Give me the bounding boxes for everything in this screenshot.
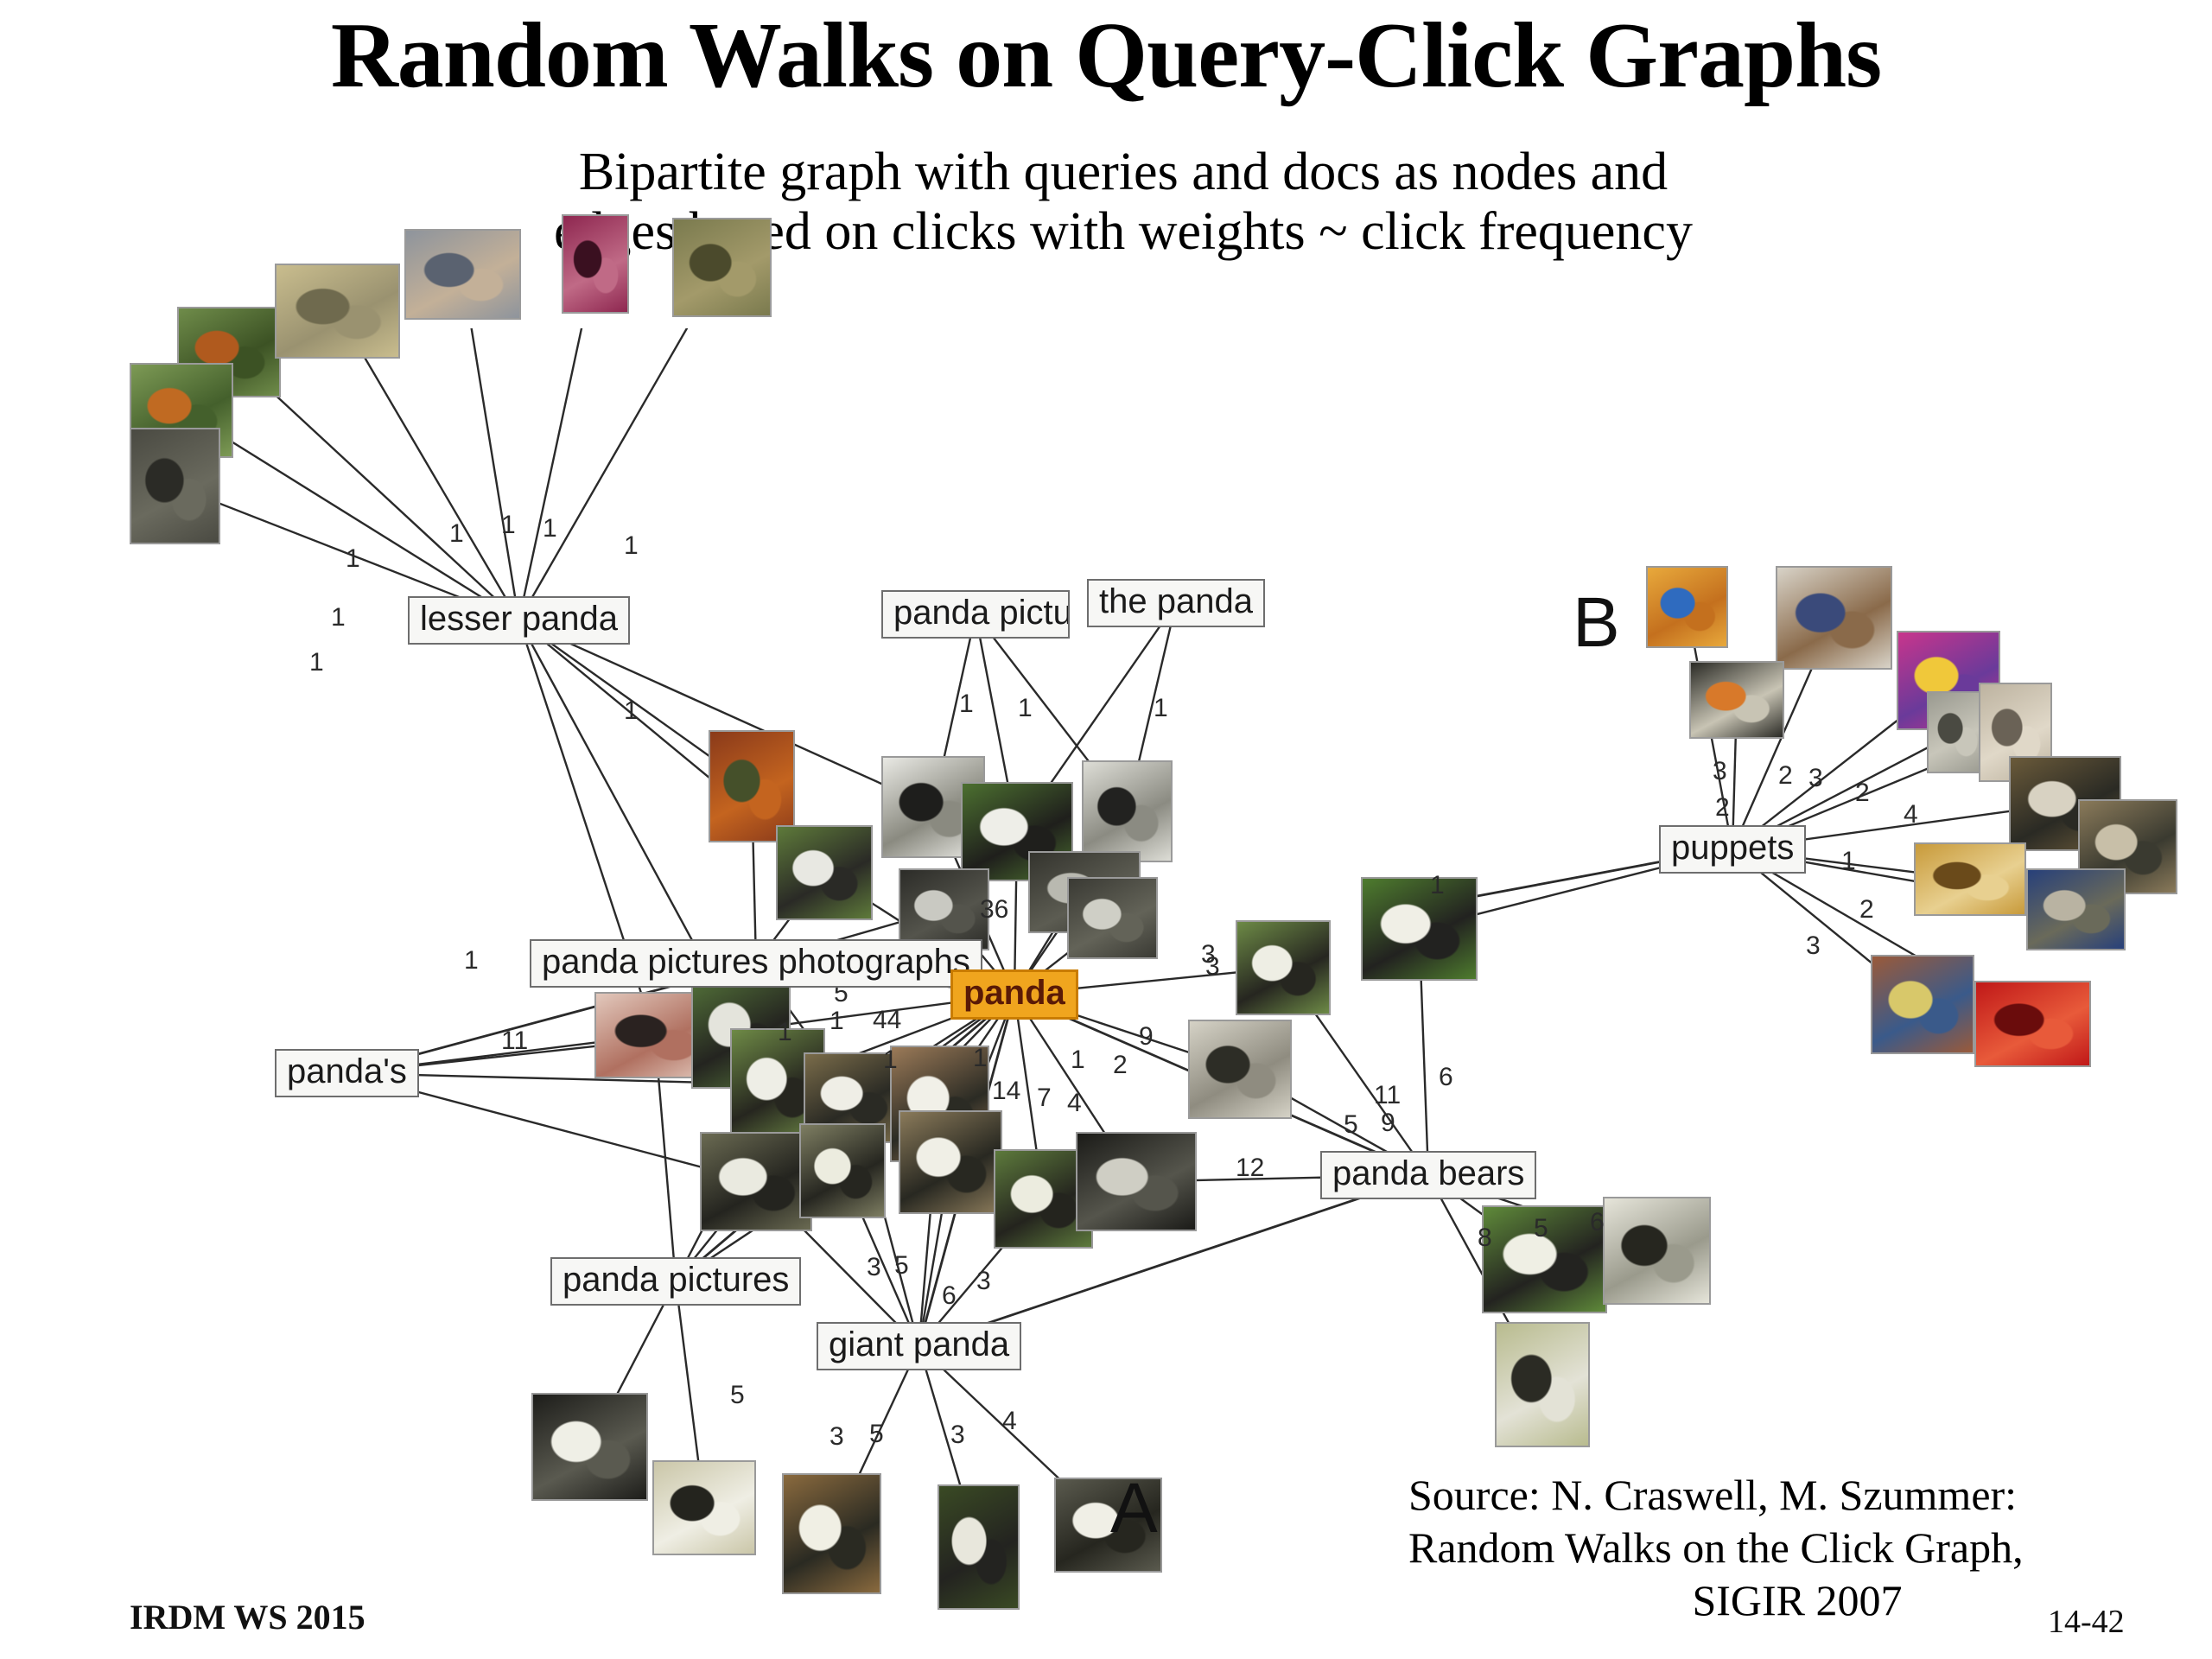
panda-dark-frame-thumbnail xyxy=(1077,1134,1195,1230)
document-node[interactable] xyxy=(1871,955,1974,1054)
green-panda-thumbnail xyxy=(778,827,871,918)
edge-weight-label: 1 xyxy=(543,516,557,542)
graph-edge xyxy=(519,328,596,620)
document-node[interactable] xyxy=(1914,842,2026,916)
dark-animal-thumbnail xyxy=(131,429,219,543)
edge-weight-label: 1 xyxy=(624,533,639,559)
edge-weight-label: 1 xyxy=(331,605,346,631)
query-click-graph: 1111111111115113644111111474339212116598… xyxy=(0,328,2212,1573)
region-marker-a: A xyxy=(1110,1473,1158,1544)
query-node-label: panda bears xyxy=(1332,1154,1524,1192)
document-node[interactable] xyxy=(899,1110,1002,1214)
panda-bamboo2-thumbnail xyxy=(1237,922,1329,1014)
document-node[interactable] xyxy=(2026,868,2126,950)
query-node-pandas-possessive[interactable]: panda's xyxy=(275,1049,419,1097)
panda-face2-thumbnail xyxy=(900,1112,1001,1212)
edge-weight-label: 3 xyxy=(1713,759,1727,785)
edge-weight-label: 1 xyxy=(1071,1047,1085,1073)
edge-weight-label: 3 xyxy=(1808,766,1823,791)
edge-weight-label: 9 xyxy=(1139,1024,1154,1050)
edge-weight-label: 6 xyxy=(1439,1065,1453,1090)
document-node[interactable] xyxy=(1974,981,2091,1067)
panda-green3-thumbnail xyxy=(1363,879,1476,979)
edge-weight-label: 1 xyxy=(501,512,516,538)
puppet-stage-thumbnail xyxy=(1916,844,2024,914)
document-node[interactable] xyxy=(782,1473,881,1594)
query-node-label: panda xyxy=(963,974,1065,1012)
panda-face3-thumbnail xyxy=(784,1475,880,1592)
edge-weight-label: 4 xyxy=(1904,802,1918,828)
edge-weight-label: 36 xyxy=(980,897,1008,923)
edge-weight-label: 1 xyxy=(464,948,479,974)
document-node[interactable] xyxy=(799,1123,886,1218)
edge-weight-label: 6 xyxy=(942,1283,957,1309)
document-node[interactable] xyxy=(652,1460,756,1555)
edge-weight-label: 5 xyxy=(1534,1216,1548,1242)
edge-weight-label: 8 xyxy=(1478,1225,1492,1251)
graph-edge xyxy=(338,328,519,620)
query-node-label: giant panda xyxy=(829,1325,1009,1363)
edge-weight-label: 1 xyxy=(883,1047,898,1073)
page-title: Random Walks on Query-Click Graphs xyxy=(0,7,2212,105)
query-node-label: panda pictures xyxy=(893,594,1070,632)
forest-animal-thumbnail xyxy=(674,219,770,315)
document-node[interactable] xyxy=(562,214,629,314)
query-node-label: panda's xyxy=(287,1052,407,1090)
edge-weight-label: 1 xyxy=(1018,696,1033,721)
query-node-label: panda pictures xyxy=(563,1261,789,1299)
slide-page-number: 14-42 xyxy=(2048,1603,2125,1641)
panda-night-thumbnail xyxy=(1069,879,1156,957)
panda-head-dark-thumbnail xyxy=(533,1395,646,1499)
edge-weight-label: 1 xyxy=(449,521,464,547)
query-node-panda-pictures-photographs[interactable]: panda pictures photographs xyxy=(530,939,982,988)
document-node[interactable] xyxy=(404,229,521,320)
query-node-panda-bears[interactable]: panda bears xyxy=(1320,1151,1536,1199)
edge-weight-label: 1 xyxy=(346,546,360,572)
edge-weight-label: 44 xyxy=(873,1007,901,1033)
edge-weight-label: 3 xyxy=(829,1424,844,1450)
edge-weight-label: 1 xyxy=(829,1008,844,1034)
panda-bamboo4-thumbnail xyxy=(1497,1324,1588,1446)
panda-pair-thumbnail xyxy=(702,1134,810,1230)
puppet-blue-thumbnail xyxy=(2028,870,2124,949)
edge-weight-label: 11 xyxy=(1374,1083,1401,1109)
dark-panda-thumbnail xyxy=(900,870,988,949)
edge-weight-label: 7 xyxy=(1037,1085,1052,1111)
edge-weight-label: 1 xyxy=(1154,696,1168,721)
edge-weight-label: 1 xyxy=(309,650,324,676)
puppet-gray-thumbnail xyxy=(1929,693,1986,772)
edge-weight-label: 4 xyxy=(1067,1090,1082,1116)
query-node-giant-panda[interactable]: giant panda xyxy=(817,1322,1021,1370)
edge-weight-label: 2 xyxy=(1859,897,1874,923)
query-node-panda-pictures[interactable]: panda pictures xyxy=(550,1257,801,1306)
puppet-red-thumbnail xyxy=(1976,982,2089,1065)
edge-weight-label: 9 xyxy=(1381,1110,1395,1136)
document-node[interactable] xyxy=(130,428,220,544)
document-node[interactable] xyxy=(938,1484,1020,1610)
document-node[interactable] xyxy=(776,825,873,920)
panda-climb-thumbnail xyxy=(939,1486,1018,1608)
edge-weight-label: 1 xyxy=(973,1046,988,1071)
edge-weight-label: 1 xyxy=(1430,873,1445,899)
panda-cub2-thumbnail xyxy=(1190,1021,1290,1117)
edge-weight-label: 14 xyxy=(992,1078,1020,1104)
query-node-label: lesser panda xyxy=(420,600,618,638)
document-node[interactable] xyxy=(1076,1132,1197,1231)
document-node[interactable] xyxy=(1067,877,1158,959)
edge-weight-label: 3 xyxy=(1806,933,1821,959)
document-node[interactable] xyxy=(672,218,772,317)
edge-weight-label: 1 xyxy=(1841,849,1856,874)
query-node-label: the panda xyxy=(1099,582,1253,620)
query-node-panda[interactable]: panda xyxy=(950,969,1078,1020)
course-footer: IRDM WS 2015 xyxy=(130,1597,365,1637)
region-marker-b: B xyxy=(1573,588,1620,658)
edge-weight-label: 5 xyxy=(1344,1112,1358,1138)
panda-twins-thumbnail xyxy=(1605,1198,1709,1303)
document-node[interactable] xyxy=(1361,877,1478,981)
query-node-label: panda pictures photographs xyxy=(542,943,970,981)
document-node[interactable] xyxy=(1776,566,1892,670)
edge-weight-label: 3 xyxy=(950,1422,965,1448)
document-node[interactable] xyxy=(899,868,989,950)
magenta-photo-thumbnail xyxy=(563,216,627,312)
edge-weight-label: 5 xyxy=(869,1421,884,1447)
query-node-label: puppets xyxy=(1671,829,1794,867)
edge-weight-label: 5 xyxy=(730,1382,745,1408)
subtitle-line-2: edges based on clicks with weights ~ cli… xyxy=(302,202,1944,262)
edge-weight-label: 3 xyxy=(976,1268,991,1294)
page-subtitle: Bipartite graph with queries and docs as… xyxy=(302,143,1944,263)
edge-weight-label: 3 xyxy=(1201,942,1216,968)
lion-puppet-thumbnail xyxy=(1648,568,1726,646)
document-node[interactable] xyxy=(1082,760,1173,862)
edge-weight-label: 2 xyxy=(1113,1052,1128,1078)
document-node[interactable] xyxy=(1495,1322,1590,1447)
tan-animal-thumbnail xyxy=(276,265,398,357)
edge-weight-label: 3 xyxy=(867,1255,881,1281)
panda-bw-thumbnail xyxy=(1084,762,1171,861)
document-node[interactable] xyxy=(700,1132,812,1231)
subtitle-line-1: Bipartite graph with queries and docs as… xyxy=(302,143,1944,202)
edge-weight-label: 6 xyxy=(1590,1210,1605,1236)
query-node-lesser-panda[interactable]: lesser panda xyxy=(408,596,630,645)
query-node-panda-pictures-truncated[interactable]: panda pictures xyxy=(881,590,1070,639)
puppet-children-thumbnail xyxy=(1872,957,1973,1052)
document-node[interactable] xyxy=(1689,661,1784,739)
document-node[interactable] xyxy=(275,264,400,359)
edge-weight-label: 1 xyxy=(778,1020,792,1046)
edge-weight-label: 2 xyxy=(1715,795,1730,821)
source-line-2: Random Walks on the Click Graph, xyxy=(1408,1523,2024,1572)
document-node[interactable] xyxy=(1646,566,1728,648)
crowd-photo-thumbnail xyxy=(406,231,519,318)
edge-weight-label: 5 xyxy=(894,1253,909,1279)
document-node[interactable] xyxy=(1603,1197,1711,1305)
edge-weight-label: 1 xyxy=(624,698,639,724)
document-node[interactable] xyxy=(1188,1020,1292,1119)
source-line-1: Source: N. Craswell, M. Szummer: xyxy=(1408,1471,2017,1519)
panda-small-thumbnail xyxy=(801,1125,884,1217)
puppet-group-thumbnail xyxy=(1777,568,1891,668)
puppet-orange-thumbnail xyxy=(1691,663,1783,737)
document-node[interactable] xyxy=(1236,920,1331,1015)
query-node-puppets[interactable]: puppets xyxy=(1659,825,1806,874)
query-node-the-panda[interactable]: the panda xyxy=(1087,579,1265,627)
edge-weight-label: 2 xyxy=(1778,763,1793,789)
panda-walk-thumbnail xyxy=(654,1462,754,1554)
edge-weight-label: 2 xyxy=(1855,780,1870,806)
edge-weight-label: 12 xyxy=(1236,1155,1264,1181)
edge-weight-label: 11 xyxy=(501,1028,528,1054)
edge-weight-label: 1 xyxy=(959,691,974,717)
document-node[interactable] xyxy=(531,1393,648,1501)
edge-weight-label: 4 xyxy=(1002,1408,1017,1434)
